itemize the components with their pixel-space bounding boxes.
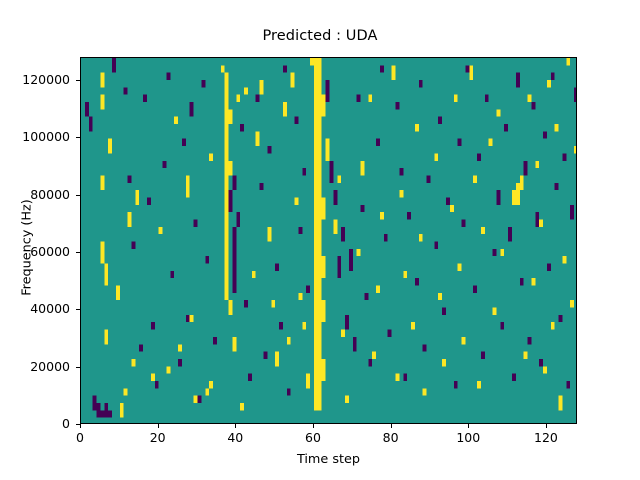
x-tick-label-20: 20 (123, 430, 193, 445)
y-tick-0 (76, 424, 80, 425)
y-tick-label-40000: 40000 (0, 301, 70, 316)
y-tick-label-0: 0 (0, 416, 70, 431)
y-tick-100000 (76, 137, 80, 138)
matplotlib-figure: Predicted : UDA Time step Frequency (Hz)… (0, 0, 640, 480)
heatmap-image (81, 58, 577, 424)
x-tick-100 (468, 424, 469, 428)
y-tick-label-60000: 60000 (0, 244, 70, 259)
y-tick-80000 (76, 195, 80, 196)
x-tick-40 (235, 424, 236, 428)
x-tick-60 (313, 424, 314, 428)
y-tick-label-80000: 80000 (0, 187, 70, 202)
x-tick-120 (546, 424, 547, 428)
x-tick-20 (158, 424, 159, 428)
y-tick-label-100000: 100000 (0, 129, 70, 144)
y-tick-label-20000: 20000 (0, 359, 70, 374)
x-tick-label-120: 120 (511, 430, 581, 445)
y-tick-60000 (76, 252, 80, 253)
y-tick-label-120000: 120000 (0, 72, 70, 87)
x-tick-label-100: 100 (433, 430, 503, 445)
x-tick-label-0: 0 (45, 430, 115, 445)
x-tick-80 (391, 424, 392, 428)
y-tick-120000 (76, 80, 80, 81)
x-tick-label-80: 80 (356, 430, 426, 445)
y-tick-40000 (76, 309, 80, 310)
x-tick-0 (80, 424, 81, 428)
x-axis-label: Time step (80, 452, 577, 467)
x-tick-label-40: 40 (200, 430, 270, 445)
chart-title: Predicted : UDA (0, 28, 640, 44)
y-tick-20000 (76, 367, 80, 368)
x-tick-label-60: 60 (278, 430, 348, 445)
heatmap-axes (80, 57, 577, 424)
